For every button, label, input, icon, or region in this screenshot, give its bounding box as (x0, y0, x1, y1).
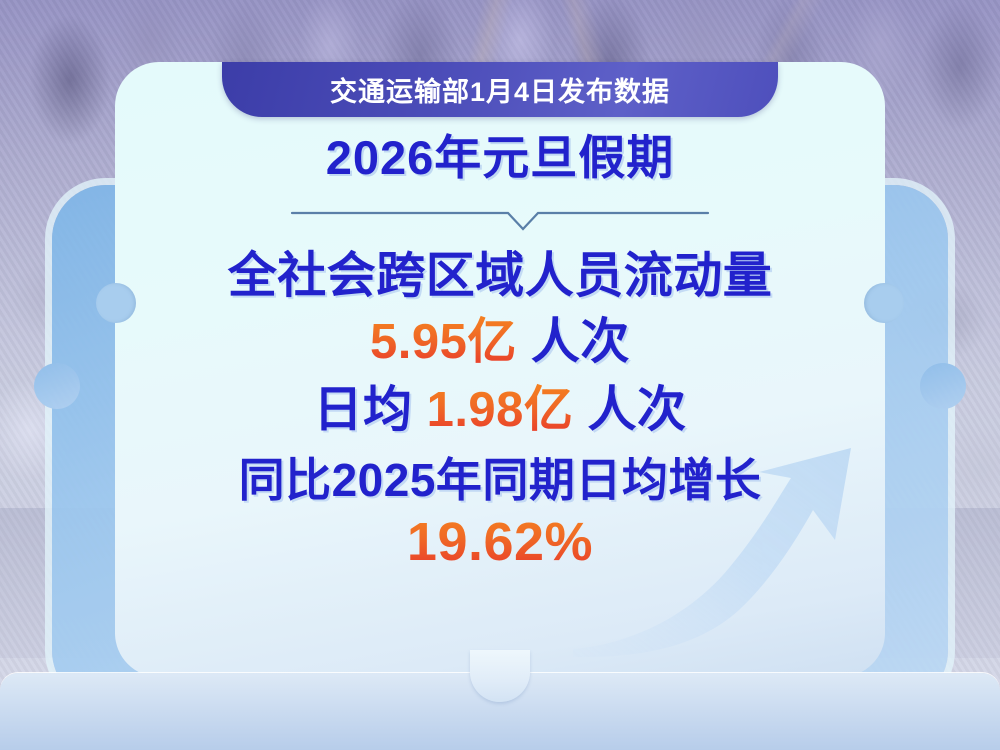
statistics-block: 全社会跨区域人员流动量 5.95亿人次 日均1.98亿人次 同比2025年同期日… (115, 247, 885, 576)
growth-value: 19.62% (407, 512, 593, 572)
source-banner-label: 交通运输部1月4日发布数据 (330, 70, 670, 109)
stat-row-growth-label: 同比2025年同期日均增长 (115, 452, 885, 508)
infographic-poster: 2026年元旦假期 全社会跨区域人员流动量 5.95亿人次 日均1.98亿人次 … (0, 0, 1000, 750)
growth-label: 同比2025年同期日均增长 (239, 454, 762, 506)
stat-row-daily-average: 日均1.98亿人次 (115, 381, 885, 441)
stat-row-growth-value: 19.62% (115, 510, 885, 576)
daily-average-prefix: 日均 (314, 383, 413, 437)
stat-row-total-value: 5.95亿人次 (115, 313, 885, 373)
main-card: 2026年元旦假期 全社会跨区域人员流动量 5.95亿人次 日均1.98亿人次 … (115, 62, 885, 677)
stat-row-total-label: 全社会跨区域人员流动量 (115, 247, 885, 307)
daily-average-unit: 人次 (587, 383, 686, 437)
v-notch-divider-icon (290, 205, 710, 235)
total-flow-value: 5.95亿 (370, 315, 517, 369)
total-flow-label: 全社会跨区域人员流动量 (228, 249, 773, 303)
card-notch-left (96, 283, 136, 323)
source-banner: 交通运输部1月4日发布数据 (222, 62, 778, 117)
card-notch-right (864, 283, 904, 323)
card-content: 2026年元旦假期 全社会跨区域人员流动量 5.95亿人次 日均1.98亿人次 … (115, 62, 885, 576)
daily-average-value: 1.98亿 (427, 383, 574, 437)
page-title: 2026年元旦假期 (115, 134, 885, 181)
total-flow-unit: 人次 (531, 315, 630, 369)
